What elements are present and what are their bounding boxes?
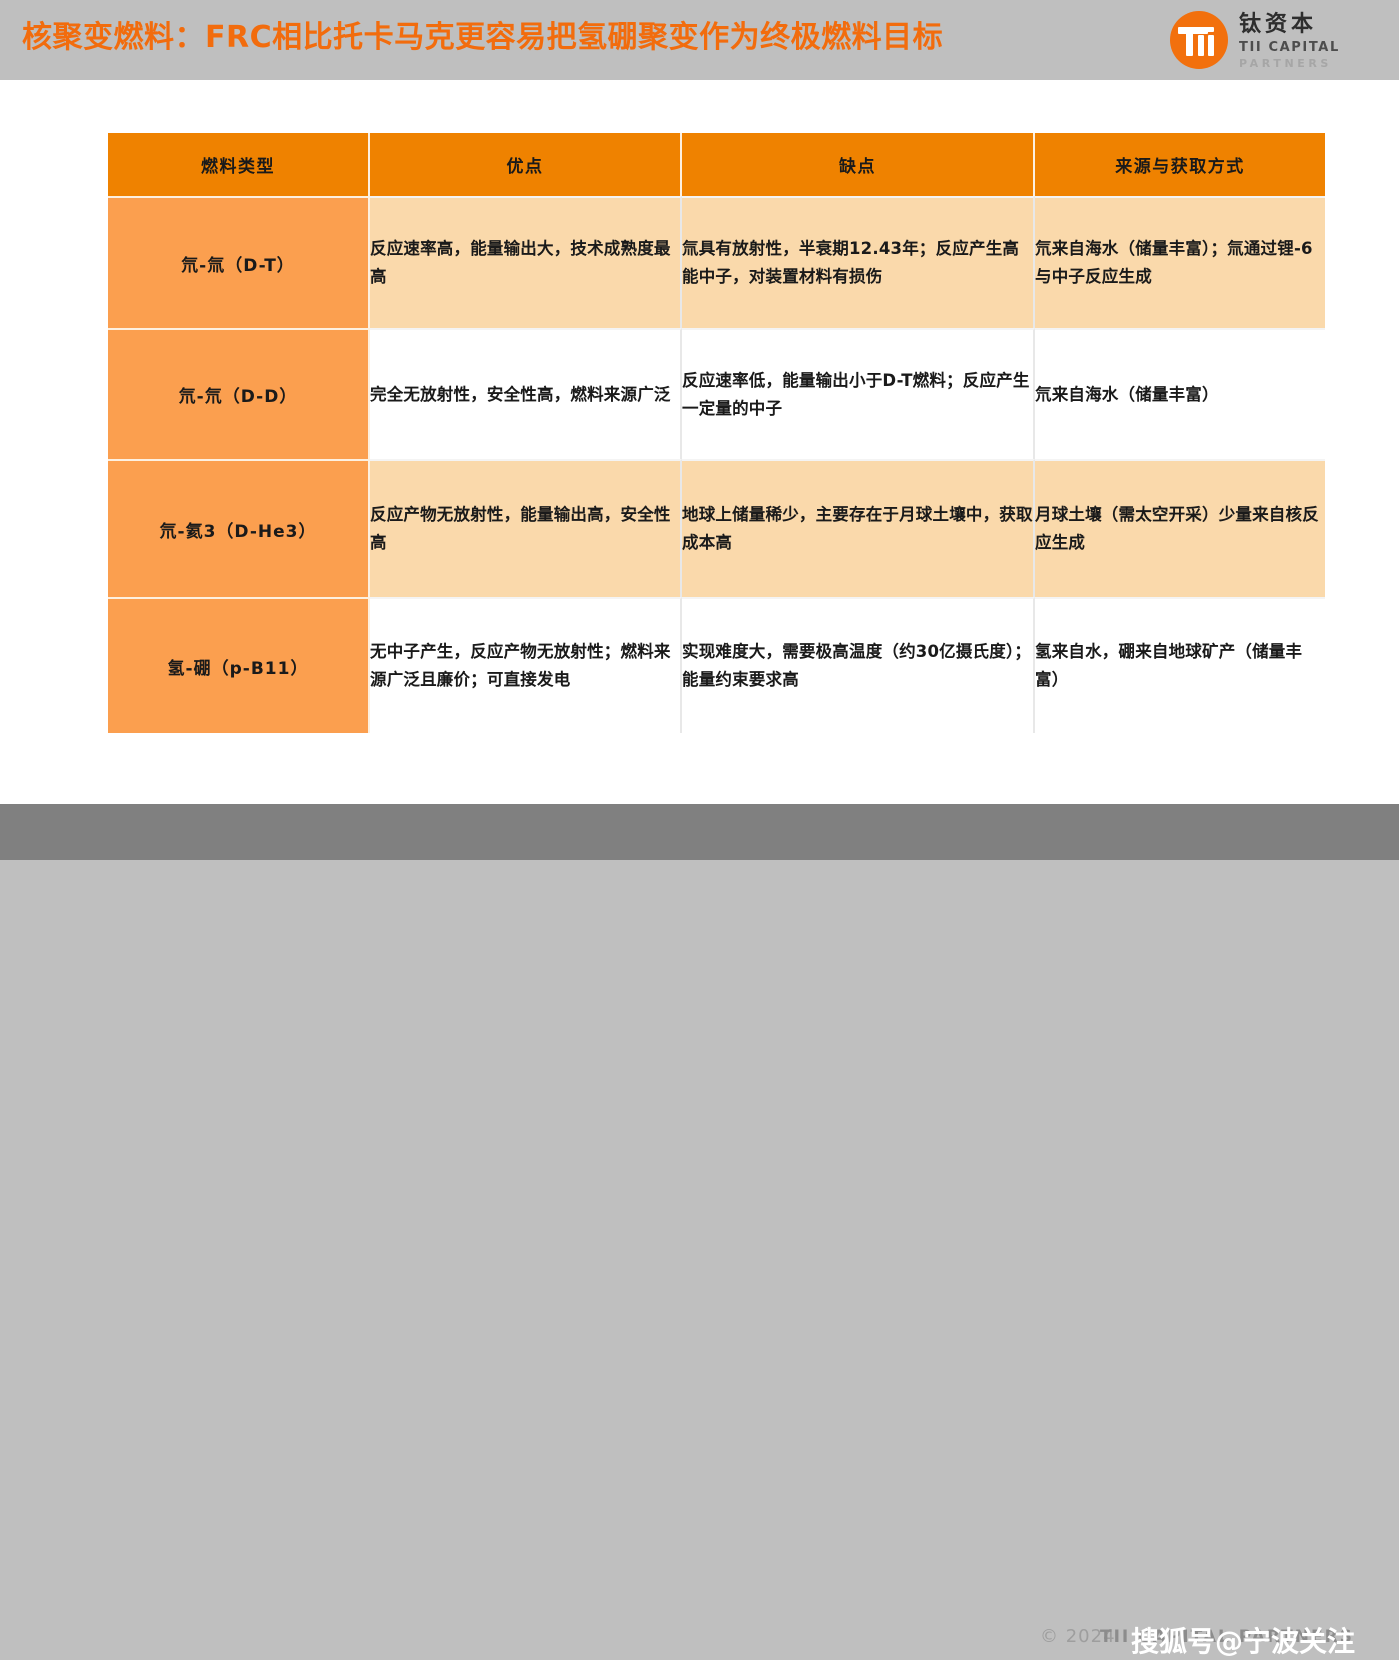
- cell-cons: 实现难度大，需要极高温度（约30亿摄氏度）；能量约束要求高: [682, 597, 1035, 733]
- brand-name-en-secondary: PARTNERS: [1239, 58, 1340, 69]
- slide-footer-band: © 2024 TII CAPITAL PARTNERS 搜狐号@宁波关注: [0, 804, 1399, 860]
- tii-circle-monogram-icon: [1169, 10, 1229, 70]
- cell-cons: 氚具有放射性，半衰期12.43年；反应产生高能中子，对装置材料有损伤: [682, 196, 1035, 328]
- watermark-text: 搜狐号@宁波关注: [1131, 1620, 1355, 1660]
- column-header-source: 来源与获取方式: [1035, 133, 1325, 196]
- brand-wordmark: 钛资本 TII CAPITAL PARTNERS: [1239, 12, 1340, 69]
- slide-title-band: 核聚变燃料：FRC相比托卡马克更容易把氢硼聚变作为终极燃料目标 钛资本 TII …: [0, 0, 1399, 80]
- cell-pros: 完全无放射性，安全性高，燃料来源广泛: [370, 328, 682, 459]
- brand-name-en-primary: TII CAPITAL: [1239, 41, 1340, 54]
- slide-content-area: 燃料类型 优点 缺点 来源与获取方式 氘-氚（D-T） 反应速率高，能量输出大，…: [0, 80, 1399, 804]
- cell-fuel-type: 氘-氦3（D-He3）: [108, 459, 370, 597]
- table-row: 氢-硼（p-B11） 无中子产生，反应产物无放射性；燃料来源广泛且廉价；可直接发…: [108, 597, 1325, 733]
- cell-cons: 地球上储量稀少，主要存在于月球土壤中，获取成本高: [682, 459, 1035, 597]
- table-row: 氘-氘（D-D） 完全无放射性，安全性高，燃料来源广泛 反应速率低，能量输出小于…: [108, 328, 1325, 459]
- page-title: 核聚变燃料：FRC相比托卡马克更容易把氢硼聚变作为终极燃料目标: [22, 16, 1122, 60]
- cell-fuel-type: 氘-氘（D-D）: [108, 328, 370, 459]
- table-row: 氘-氚（D-T） 反应速率高，能量输出大，技术成熟度最高 氚具有放射性，半衰期1…: [108, 196, 1325, 328]
- cell-fuel-type: 氘-氚（D-T）: [108, 196, 370, 328]
- brand-logo: 钛资本 TII CAPITAL PARTNERS: [1169, 9, 1369, 71]
- column-header-pros: 优点: [370, 133, 682, 196]
- cell-source: 月球土壤（需太空开采）少量来自核反应生成: [1035, 459, 1325, 597]
- cell-pros: 反应产物无放射性，能量输出高，安全性高: [370, 459, 682, 597]
- cell-pros: 反应速率高，能量输出大，技术成熟度最高: [370, 196, 682, 328]
- column-header-cons: 缺点: [682, 133, 1035, 196]
- cell-source: 氢来自水，硼来自地球矿产（储量丰富）: [1035, 597, 1325, 733]
- cell-pros: 无中子产生，反应产物无放射性；燃料来源广泛且廉价；可直接发电: [370, 597, 682, 733]
- cell-source: 氘来自海水（储量丰富）；氚通过锂-6与中子反应生成: [1035, 196, 1325, 328]
- cell-source: 氘来自海水（储量丰富）: [1035, 328, 1325, 459]
- table-row: 氘-氦3（D-He3） 反应产物无放射性，能量输出高，安全性高 地球上储量稀少，…: [108, 459, 1325, 597]
- fusion-fuel-comparison-table: 燃料类型 优点 缺点 来源与获取方式 氘-氚（D-T） 反应速率高，能量输出大，…: [108, 133, 1325, 733]
- column-header-fuel-type: 燃料类型: [108, 133, 370, 196]
- cell-fuel-type: 氢-硼（p-B11）: [108, 597, 370, 733]
- table-header-row: 燃料类型 优点 缺点 来源与获取方式: [108, 133, 1325, 196]
- brand-name-cn: 钛资本: [1239, 14, 1340, 36]
- cell-cons: 反应速率低，能量输出小于D-T燃料；反应产生一定量的中子: [682, 328, 1035, 459]
